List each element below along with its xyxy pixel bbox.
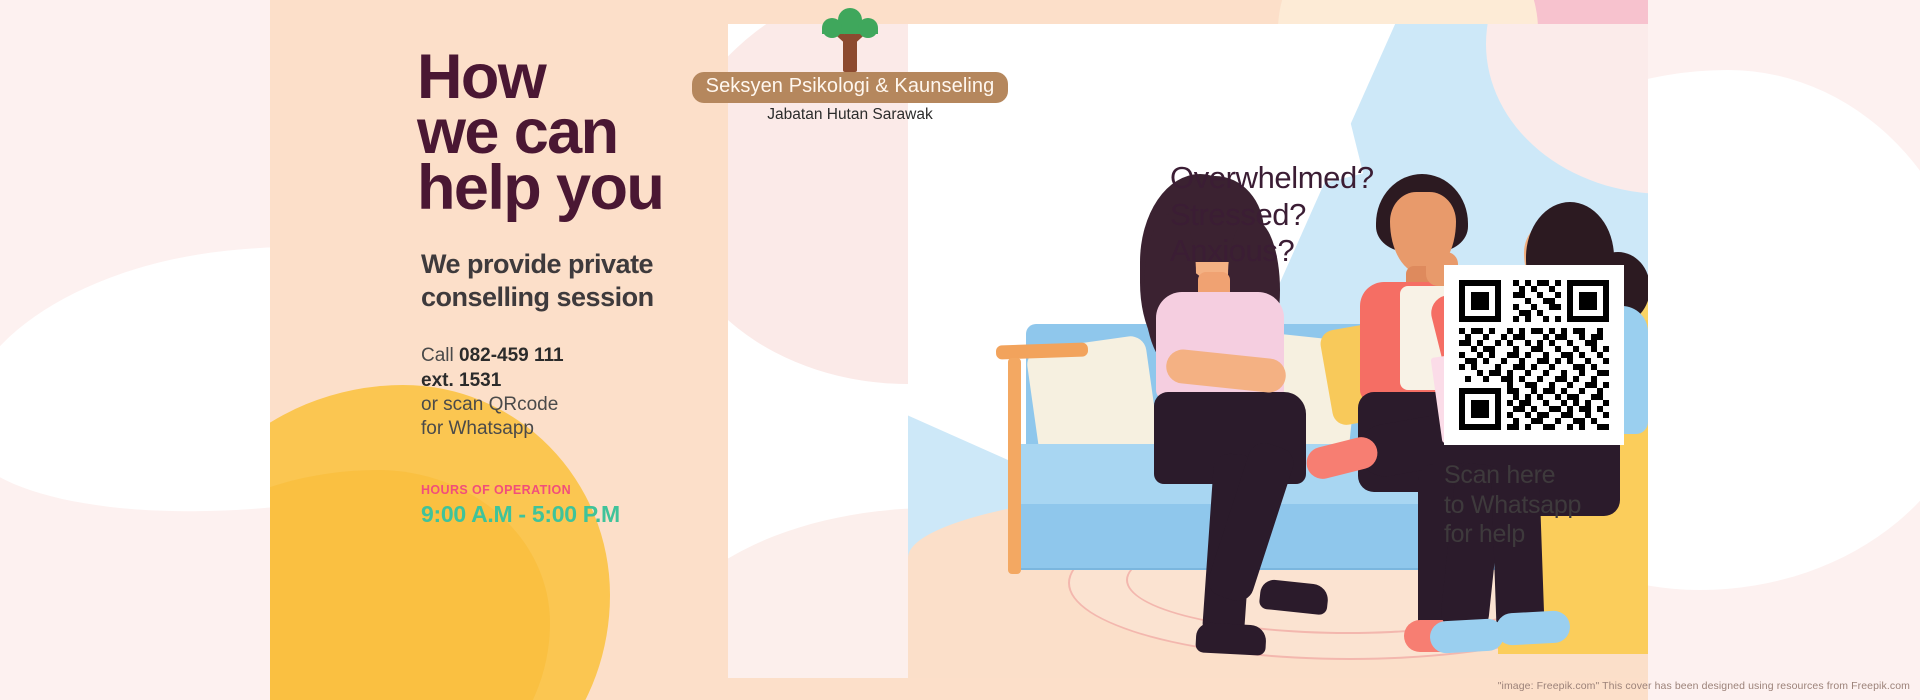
hours-label: HOURS OF OPERATION (421, 483, 717, 497)
person-counselor-shoe-right (1495, 610, 1571, 646)
contact-ext-value: ext. 1531 (421, 370, 501, 391)
questions-block: Overwhelmed? Stressed? Anxious? (1170, 160, 1374, 270)
question-1: Overwhelmed? (1170, 160, 1374, 197)
contact-call-line: Call 082-459 111 (421, 344, 717, 368)
sofa-leg-left (1008, 358, 1021, 574)
qr-panel: Scan here to Whatsapp for help (1444, 265, 1624, 550)
subheading: We provide private conselling session (421, 248, 717, 314)
contact-ext: ext. 1531 (421, 369, 717, 393)
qr-caption: Scan here to Whatsapp for help (1444, 461, 1624, 550)
qr-code-icon[interactable] (1444, 265, 1624, 445)
organisation-logo: Seksyen Psikologi & Kaunseling Jabatan H… (680, 8, 1020, 120)
text-column: How we can help you We provide private c… (417, 50, 717, 528)
page-title: How we can help you (417, 50, 717, 216)
contact-line-4: for Whatsapp (421, 417, 717, 441)
qr-caption-line-3: for help (1444, 520, 1624, 550)
logo-pill-label: Seksyen Psikologi & Kaunseling (692, 72, 1009, 103)
subhead-line-2: conselling session (421, 281, 717, 314)
logo-subtitle: Jabatan Hutan Sarawak (680, 106, 1020, 124)
contact-line-3: or scan QRcode (421, 393, 717, 417)
question-2: Stressed? (1170, 197, 1374, 234)
attribution-credit: "image: Freepik.com" This cover has been… (1498, 680, 1910, 692)
hours-value: 9:00 A.M - 5:00 P.M (421, 501, 717, 528)
qr-caption-line-2: to Whatsapp (1444, 491, 1624, 521)
hours-block: HOURS OF OPERATION 9:00 A.M - 5:00 P.M (421, 483, 717, 528)
contact-call-prefix: Call (421, 345, 459, 366)
contact-block: Call 082-459 111 ext. 1531 or scan QRcod… (421, 344, 717, 441)
poster-stage: Seksyen Psikologi & Kaunseling Jabatan H… (0, 0, 1920, 700)
subhead-line-1: We provide private (421, 248, 717, 281)
person-counselor-shoe-left (1429, 618, 1505, 654)
qr-caption-line-1: Scan here (1444, 461, 1624, 491)
headline-line-3: help you (417, 161, 717, 216)
person-woman-shoe-back (1195, 622, 1266, 656)
tree-logo-icon (680, 8, 1020, 74)
contact-phone: 082-459 111 (459, 345, 564, 366)
question-3: Anxious? (1170, 233, 1374, 270)
